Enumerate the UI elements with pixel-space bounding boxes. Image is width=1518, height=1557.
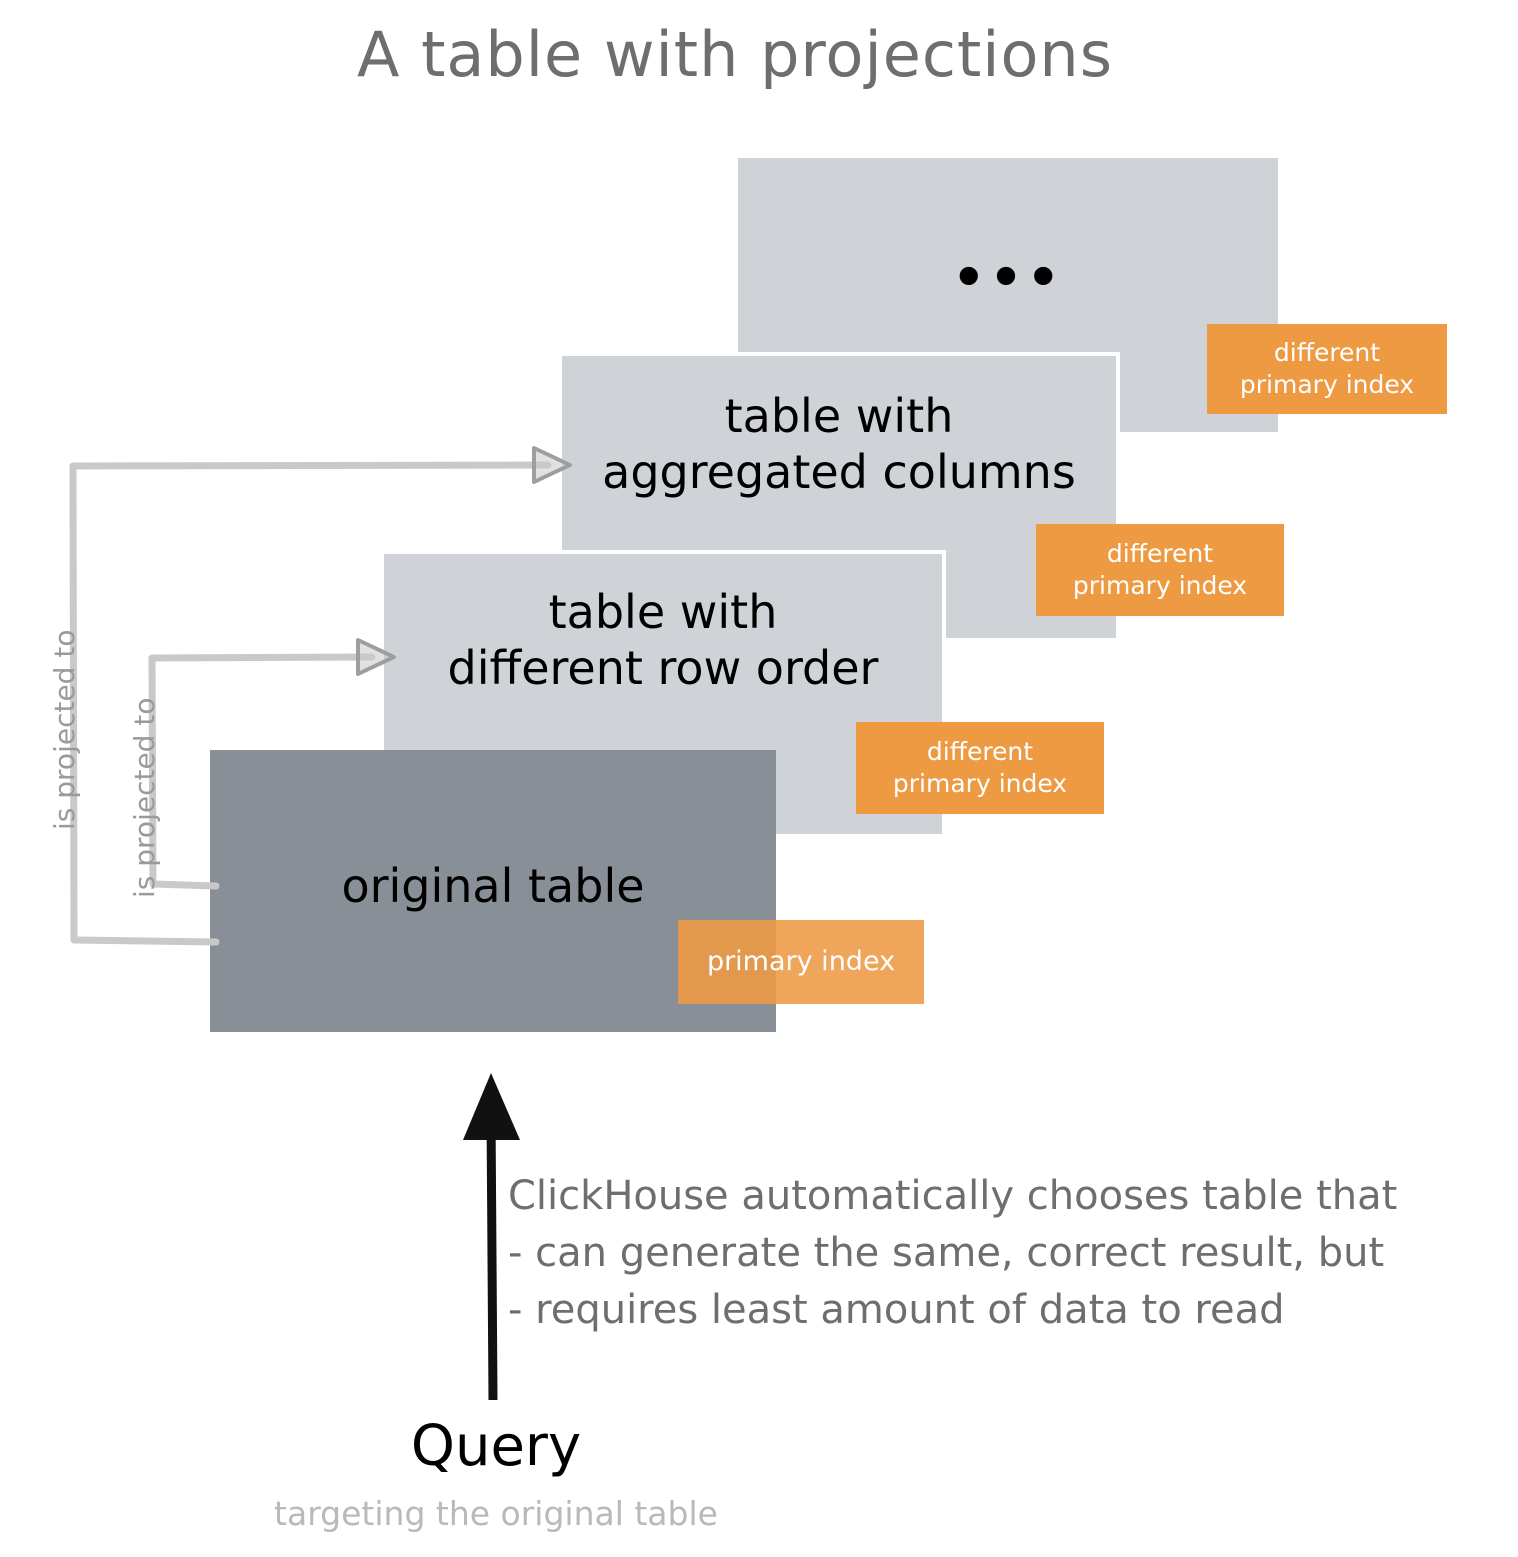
connector-label-outer: is projected to — [48, 630, 81, 830]
diagram-canvas: A table with projections ••• table with … — [0, 0, 1518, 1557]
badge-different-primary-index-row-order: different primary index — [856, 722, 1104, 814]
badge-different-primary-index-top: different primary index — [1207, 324, 1447, 414]
query-arrowhead — [463, 1073, 520, 1140]
table-card-aggregated-columns-label: table with aggregated columns — [562, 388, 1116, 500]
badge-primary-index-original: primary index — [678, 920, 924, 1004]
query-label: Query — [336, 1414, 656, 1479]
page-title: A table with projections — [0, 18, 1470, 91]
table-card-original-label: original table — [210, 858, 776, 914]
explanation-text: ClickHouse automatically chooses table t… — [508, 1168, 1508, 1338]
ellipsis-label: ••• — [738, 252, 1278, 304]
badge-different-primary-index-aggregated: different primary index — [1036, 524, 1284, 616]
query-arrow — [491, 1115, 493, 1400]
connector-label-inner: is projected to — [128, 698, 161, 898]
query-sublabel: targeting the original table — [176, 1494, 816, 1533]
table-card-different-row-order-label: table with different row order — [384, 584, 942, 696]
